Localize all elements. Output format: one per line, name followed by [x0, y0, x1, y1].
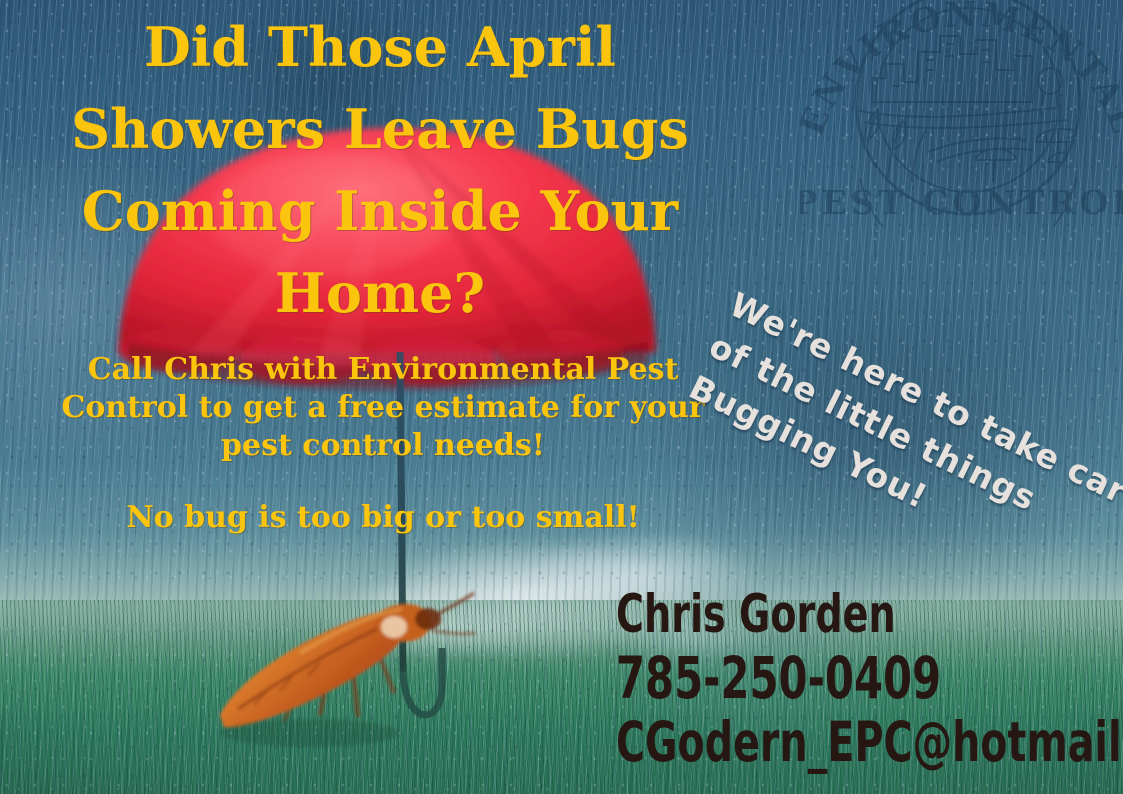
body-line-4: No bug is too big or too small! — [22, 499, 744, 537]
body-copy: Call Chris with Environmental Pest Contr… — [22, 351, 744, 537]
body-line-1: Call Chris with Environmental Pest — [22, 351, 744, 389]
body-spacer — [22, 465, 744, 499]
body-line-2: Control to get a free estimate for your — [22, 389, 744, 427]
headline: Did Those April Showers Leave Bugs Comin… — [0, 6, 760, 334]
body-line-3: pest control needs! — [22, 427, 744, 465]
headline-line-4: Home? — [0, 252, 760, 334]
headline-line-1: Did Those April — [0, 6, 760, 88]
contact-email[interactable]: CGodern_EPC@hotmail.com — [616, 715, 1020, 770]
headline-line-3: Coming Inside Your — [0, 170, 760, 252]
headline-line-2: Showers Leave Bugs — [0, 88, 760, 170]
pest-control-flyer: ENVIRONMENTAL PEST CONTROL Did Those Apr… — [0, 0, 1123, 794]
contact-phone[interactable]: 785-250-0409 — [616, 649, 1020, 707]
contact-name: Chris Gorden — [616, 588, 1020, 641]
contact-block: Chris Gorden 785-250-0409 CGodern_EPC@ho… — [616, 588, 1121, 770]
